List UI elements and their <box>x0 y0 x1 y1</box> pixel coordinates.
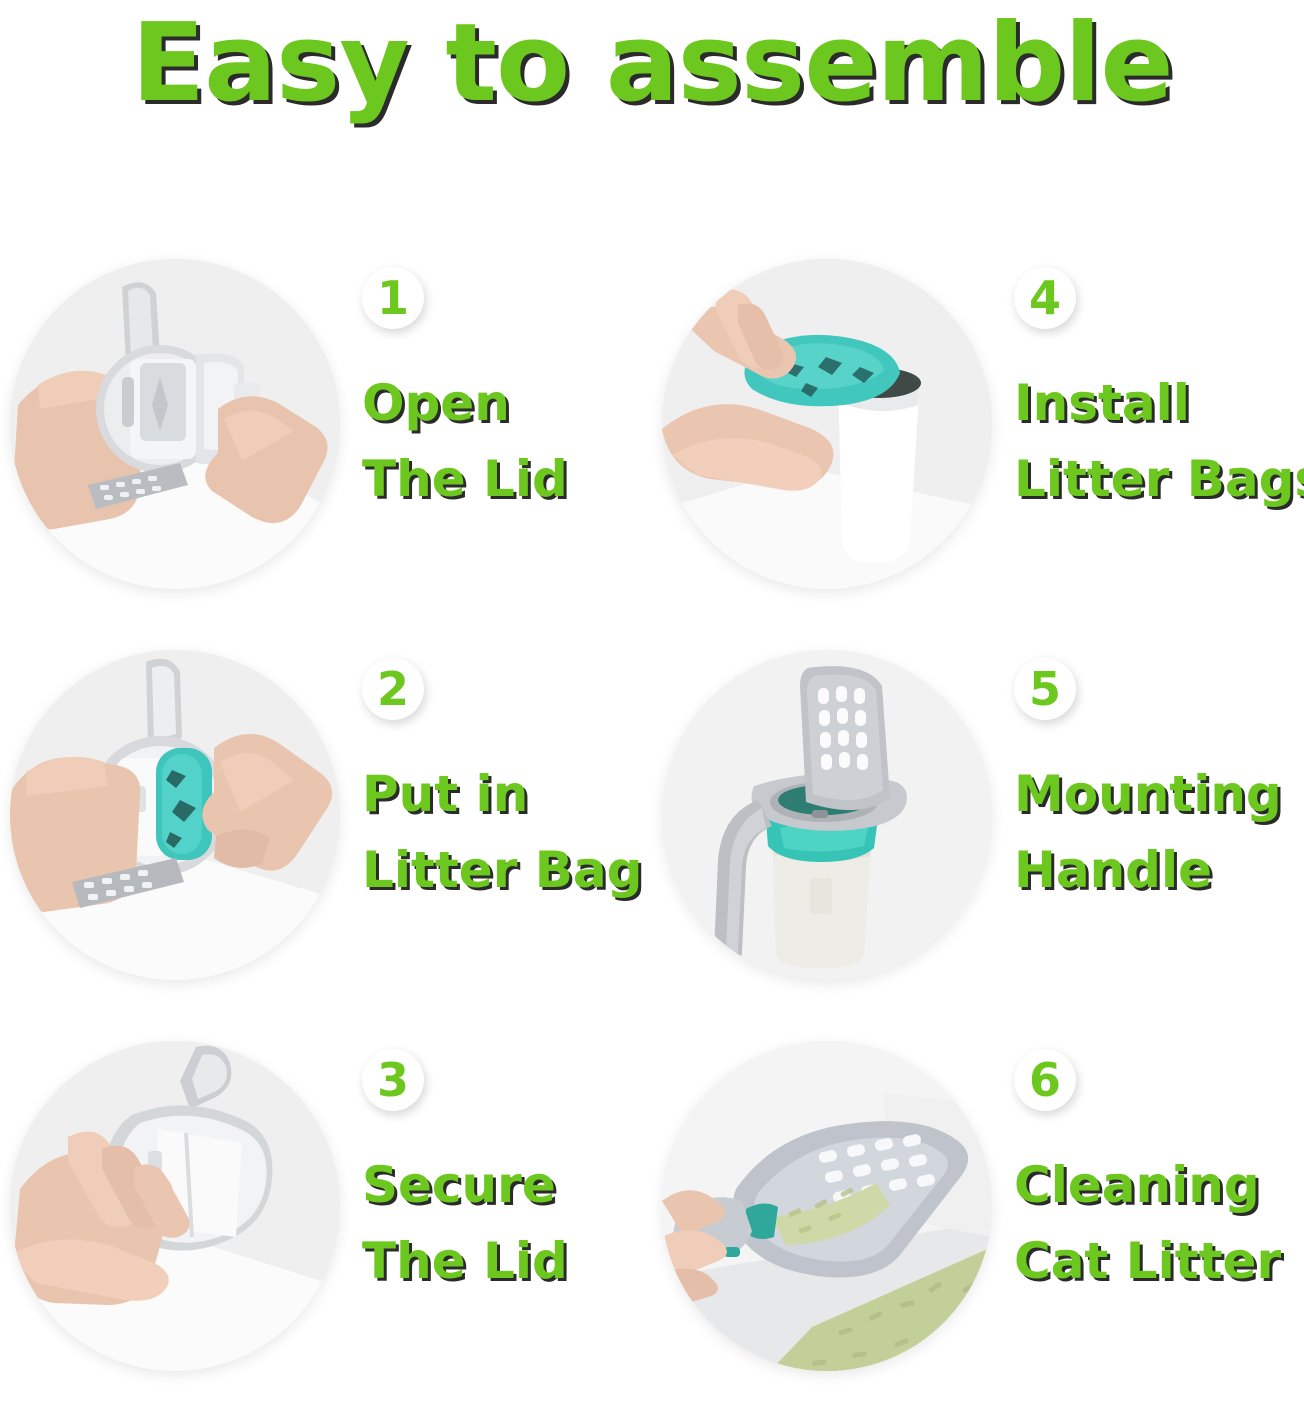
securing-lid-illustration <box>10 1041 340 1371</box>
step-label-line2-6: Cat Litter <box>1014 1223 1300 1299</box>
step-text-2: 2 Put in Litter Bag <box>350 650 652 980</box>
step-photo-wrapper-5 <box>652 650 1002 980</box>
installing-litter-bag-illustration <box>662 259 992 589</box>
step-label-1: Open The Lid <box>362 365 648 517</box>
step-photo-5 <box>662 650 992 980</box>
step-photo-6 <box>662 1041 992 1371</box>
step-text-6: 6 Cleaning Cat Litter <box>1002 1041 1304 1371</box>
step-label-line2-5: Handle <box>1014 832 1300 908</box>
step-number-badge-2: 2 <box>362 658 424 720</box>
step-text-3: 3 Secure The Lid <box>350 1041 652 1371</box>
step-label-line1-1: Open <box>362 365 648 441</box>
step-label-line2-2: Litter Bag <box>362 832 648 908</box>
step-photo-wrapper-2 <box>0 650 350 980</box>
step-card-6: 6 Cleaning Cat Litter <box>652 1010 1304 1401</box>
hands-opening-lid-illustration <box>10 259 340 589</box>
step-number-badge-1: 1 <box>362 267 424 329</box>
step-label-3: Secure The Lid <box>362 1147 648 1299</box>
step-label-2: Put in Litter Bag <box>362 756 648 908</box>
scooping-cat-litter-illustration <box>662 1041 992 1371</box>
step-photo-wrapper-1 <box>0 259 350 589</box>
inserting-bag-roll-illustration <box>10 650 340 980</box>
step-label-line2-4: Litter Bags <box>1014 441 1300 517</box>
step-label-line1-6: Cleaning <box>1014 1147 1300 1223</box>
step-photo-wrapper-3 <box>0 1041 350 1371</box>
step-number-badge-4: 4 <box>1014 267 1076 329</box>
step-label-line1-2: Put in <box>362 756 648 832</box>
step-photo-wrapper-6 <box>652 1041 1002 1371</box>
step-label-6: Cleaning Cat Litter <box>1014 1147 1300 1299</box>
step-photo-3 <box>10 1041 340 1371</box>
step-card-2: 2 Put in Litter Bag <box>0 619 652 1010</box>
page-header: Easy to assemble <box>0 0 1304 123</box>
step-card-5: 5 Mounting Handle <box>652 619 1304 1010</box>
step-label-line2-1: The Lid <box>362 441 648 517</box>
step-card-4: 4 Install Litter Bags <box>652 228 1304 619</box>
step-label-line1-3: Secure <box>362 1147 648 1223</box>
step-text-4: 4 Install Litter Bags <box>1002 259 1304 589</box>
step-photo-wrapper-4 <box>652 259 1002 589</box>
step-label-line2-3: The Lid <box>362 1223 648 1299</box>
step-number-badge-5: 5 <box>1014 658 1076 720</box>
step-number-badge-3: 3 <box>362 1049 424 1111</box>
step-photo-4 <box>662 259 992 589</box>
step-label-4: Install Litter Bags <box>1014 365 1300 517</box>
step-label-line1-5: Mounting <box>1014 756 1300 832</box>
step-label-line1-4: Install <box>1014 365 1300 441</box>
step-text-5: 5 Mounting Handle <box>1002 650 1304 980</box>
step-label-5: Mounting Handle <box>1014 756 1300 908</box>
step-card-3: 3 Secure The Lid <box>0 1010 652 1401</box>
step-card-1: 1 Open The Lid <box>0 228 652 619</box>
step-photo-1 <box>10 259 340 589</box>
step-number-badge-6: 6 <box>1014 1049 1076 1111</box>
page-title: Easy to assemble <box>131 6 1172 123</box>
step-text-1: 1 Open The Lid <box>350 259 652 589</box>
step-photo-2 <box>10 650 340 980</box>
mounted-scoop-on-container-illustration <box>662 650 992 980</box>
assembly-steps-grid: 1 Open The Lid <box>0 228 1304 1401</box>
